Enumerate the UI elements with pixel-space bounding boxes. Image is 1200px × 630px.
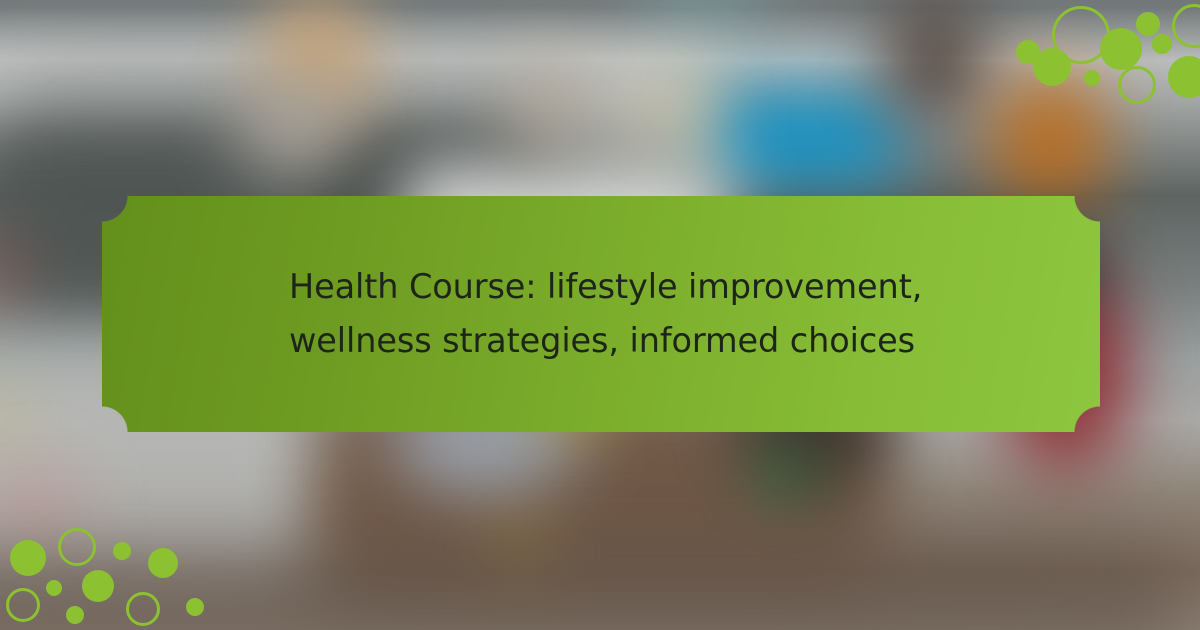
- bg-shape-person-gray-top: [232, 70, 352, 180]
- bg-shape-bottom-shadow: [0, 540, 1180, 630]
- bg-shape-person-dark-right: [880, 0, 990, 120]
- bg-shape-person-orange: [990, 70, 1110, 210]
- bg-shape-teal-top: [640, 0, 770, 30]
- bg-shape-teal-panel: [700, 90, 900, 186]
- banner-canvas: Health Course: lifestyle improvement, we…: [0, 0, 1200, 630]
- page-title: Health Course: lifestyle improvement, we…: [289, 260, 989, 368]
- bg-shape-toy-green: [760, 450, 810, 496]
- headline-banner: Health Course: lifestyle improvement, we…: [102, 196, 1100, 432]
- bg-shape-child-center: [510, 50, 590, 160]
- bg-shape-child-blond: [640, 68, 720, 158]
